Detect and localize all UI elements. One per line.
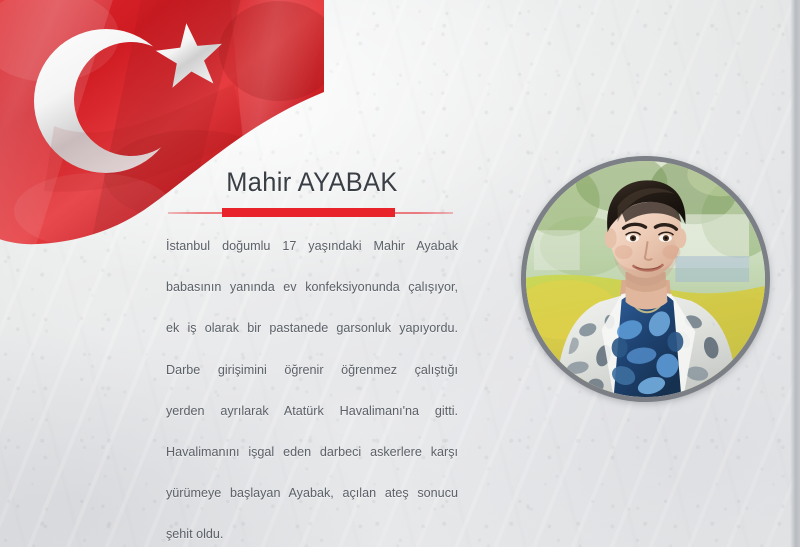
right-edge-shadow (790, 0, 800, 547)
bio-line: babasının yanında ev konfeksiyonunda çal… (166, 277, 458, 318)
divider-thick-bar (222, 208, 395, 217)
poster-canvas: Mahir AYABAK İstanbul doğumlu 17 yaşında… (0, 0, 800, 547)
page-title: Mahir AYABAK (166, 166, 458, 198)
bio-line: yürümeye başlayan Ayabak, açılan ateş so… (166, 483, 458, 524)
red-divider-rule (168, 208, 453, 217)
bio-line: Darbe girişimini öğrenir öğrenmez çalışt… (166, 360, 458, 401)
bio-line: yerden ayrılarak Atatürk Havalimanı'na g… (166, 401, 458, 442)
bio-line: ek iş olarak bir pastanede garsonluk yap… (166, 318, 458, 359)
biography-text: İstanbul doğumlu 17 yaşındaki Mahir Ayab… (166, 236, 458, 545)
bio-line: şehit oldu. (166, 524, 458, 545)
page-title-text: Mahir AYABAK (175, 166, 449, 198)
bio-line: Havalimanını işgal eden darbeci askerler… (166, 442, 458, 483)
portrait-photo (526, 161, 765, 397)
portrait-frame (521, 156, 770, 402)
bio-line: İstanbul doğumlu 17 yaşındaki Mahir Ayab… (166, 236, 458, 277)
